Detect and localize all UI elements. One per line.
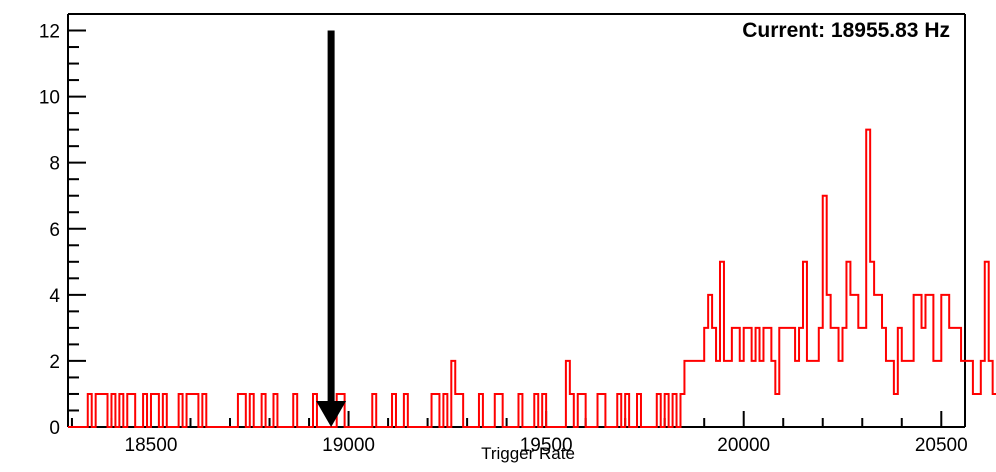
x-tick-label: 18500 [125, 435, 178, 456]
y-tick-label: 4 [49, 286, 60, 307]
y-tick-label: 10 [39, 88, 60, 109]
histogram-canvas: 024681012 1850019000195002000020500 Trig… [0, 0, 996, 472]
y-tick-label: 12 [39, 22, 60, 43]
y-tick-label: 6 [49, 220, 60, 241]
x-tick-label: 20500 [915, 435, 968, 456]
canvas-background [0, 0, 996, 472]
x-tick-label: 20000 [717, 435, 770, 456]
current-rate-readout: Current: 18955.83 Hz [742, 19, 950, 42]
x-axis-title: Trigger Rate [481, 444, 575, 463]
trigger-rate-plot-window: 024681012 1850019000195002000020500 Trig… [0, 0, 996, 472]
y-tick-label: 0 [49, 418, 60, 439]
x-tick-label: 19000 [322, 435, 375, 456]
y-tick-label: 8 [49, 154, 60, 175]
y-tick-label: 2 [49, 352, 60, 373]
